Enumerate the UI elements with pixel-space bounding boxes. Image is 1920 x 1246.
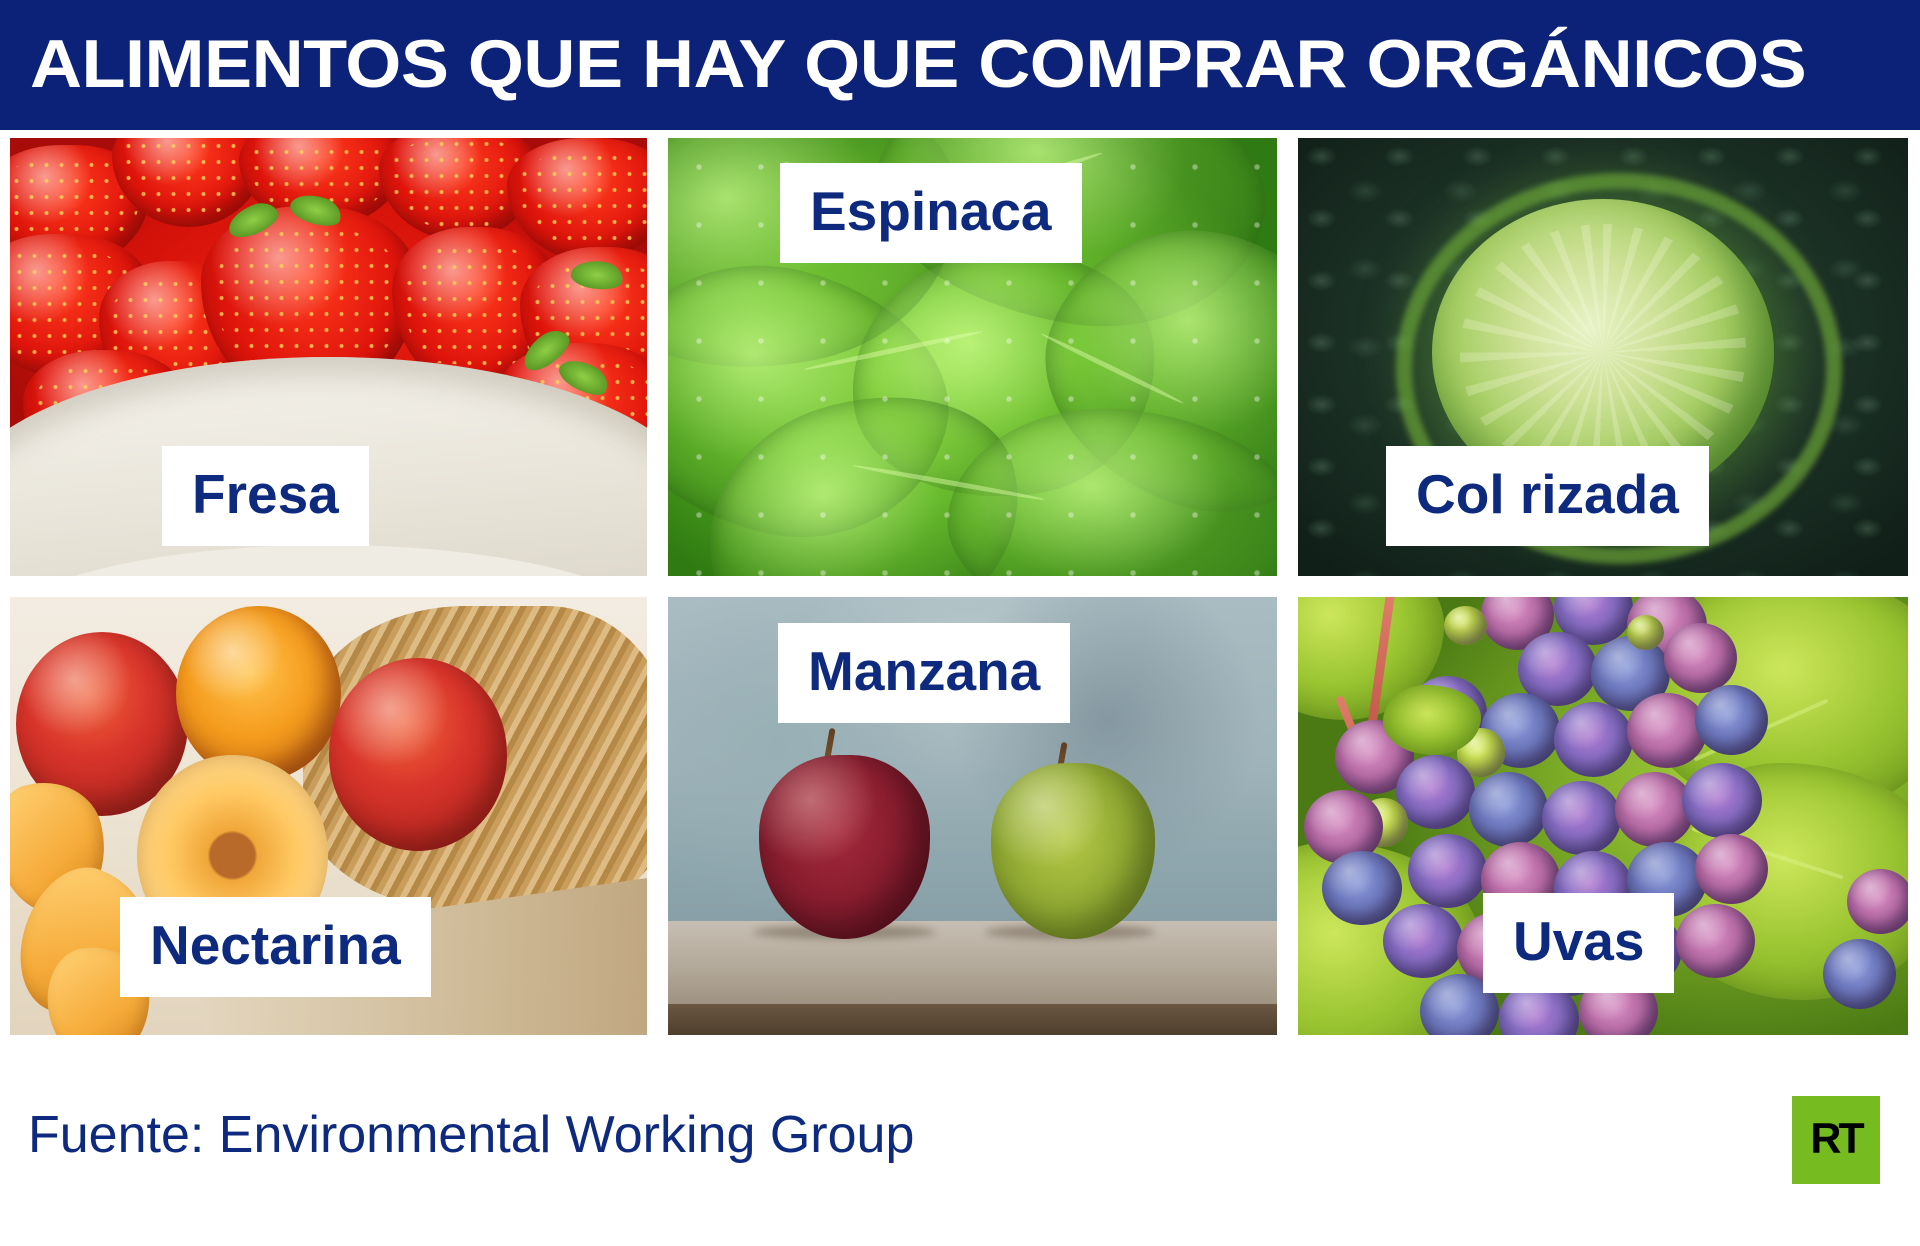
label-espinaca: Espinaca (780, 163, 1082, 263)
page-title: ALIMENTOS QUE HAY QUE COMPRAR ORGÁNICOS (30, 22, 1806, 106)
label-col-rizada: Col rizada (1386, 446, 1709, 546)
label-nectarina: Nectarina (120, 897, 431, 997)
grid-cell-nectarina[interactable]: Nectarina (10, 597, 647, 1035)
source-attribution: Fuente: Environmental Working Group (28, 1105, 914, 1165)
food-grid: Fresa Espinaca Col rizada (10, 138, 1908, 1035)
label-fresa: Fresa (162, 446, 369, 546)
rt-logo-text: RT (1792, 1115, 1880, 1164)
table-edge (668, 1004, 1277, 1035)
grid-cell-col-rizada[interactable]: Col rizada (1298, 138, 1908, 576)
grid-cell-espinaca[interactable]: Espinaca (668, 138, 1277, 576)
grid-cell-uvas[interactable]: Uvas (1298, 597, 1908, 1035)
grid-cell-manzana[interactable]: Manzana (668, 597, 1277, 1035)
rt-logo[interactable]: RT (1792, 1096, 1880, 1184)
label-manzana: Manzana (778, 623, 1070, 723)
header-band: ALIMENTOS QUE HAY QUE COMPRAR ORGÁNICOS (0, 0, 1920, 130)
grid-cell-fresa[interactable]: Fresa (10, 138, 647, 576)
label-uvas: Uvas (1483, 893, 1674, 993)
